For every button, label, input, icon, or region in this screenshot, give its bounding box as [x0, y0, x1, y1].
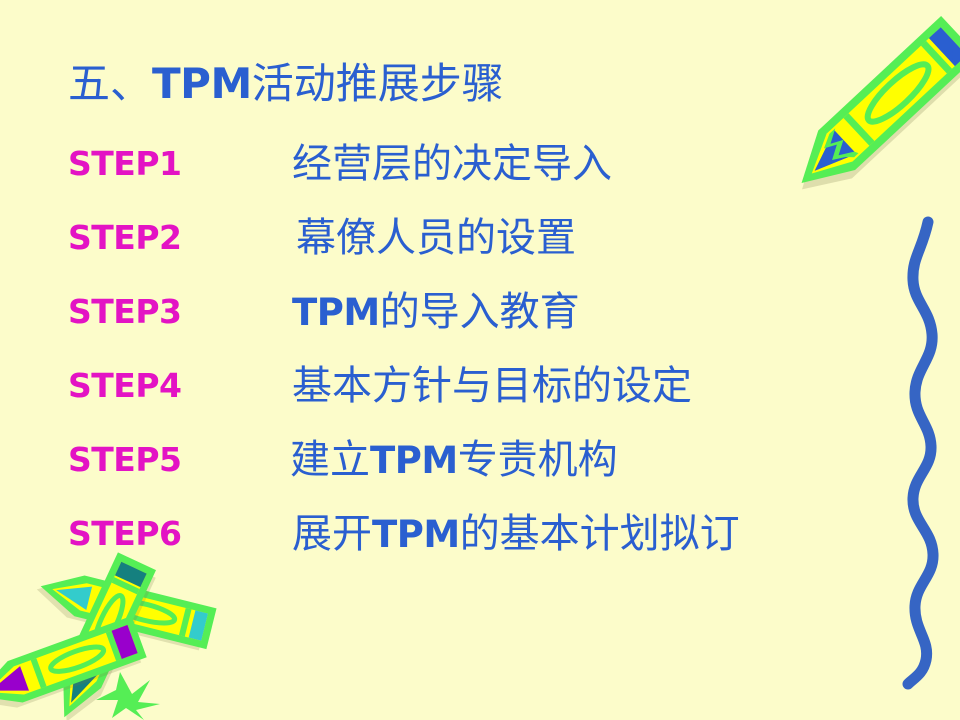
step-text-latin: TPM: [372, 513, 460, 556]
slide-canvas: 五、TPM活动推展步骤 STEP1 经营层的决定导入 STEP2 幕僚人员的设置…: [0, 0, 960, 720]
step-text-pre: 展开: [292, 511, 372, 557]
step-text-post: 基本方针与目标的设定: [292, 363, 692, 409]
step-row: STEP3 TPM的导入教育: [0, 286, 960, 346]
step-text-post: 经营层的决定导入: [292, 141, 612, 187]
step-text: TPM的导入教育: [292, 286, 580, 339]
step-text-pre: 建立: [290, 437, 370, 483]
step-row: STEP1 经营层的决定导入: [0, 138, 960, 198]
step-label: STEP3: [68, 286, 181, 338]
step-text: 幕僚人员的设置: [296, 212, 576, 265]
step-row: STEP4 基本方针与目标的设定: [0, 360, 960, 420]
step-label: STEP4: [68, 360, 181, 412]
page-title: 五、TPM活动推展步骤: [68, 58, 504, 110]
page-title-latin: TPM: [152, 59, 252, 108]
step-text: 基本方针与目标的设定: [292, 360, 692, 413]
step-label: STEP1: [68, 138, 181, 190]
step-label: STEP5: [68, 434, 181, 486]
step-row: STEP2 幕僚人员的设置: [0, 212, 960, 272]
step-text-post: 幕僚人员的设置: [296, 215, 576, 261]
page-title-suffix: 活动推展步骤: [252, 59, 504, 108]
step-text-post: 的基本计划拟订: [460, 511, 740, 557]
step-text-latin: TPM: [292, 291, 380, 334]
text-layer: 五、TPM活动推展步骤 STEP1 经营层的决定导入 STEP2 幕僚人员的设置…: [0, 0, 960, 720]
step-row: STEP5 建立TPM专责机构: [0, 434, 960, 494]
step-text: 经营层的决定导入: [292, 138, 612, 191]
step-text: 建立TPM专责机构: [290, 434, 618, 487]
step-label: STEP2: [68, 212, 181, 264]
step-row: STEP6 展开TPM的基本计划拟订: [0, 508, 960, 568]
page-title-prefix: 五、: [68, 59, 152, 108]
step-text-post: 的导入教育: [380, 289, 580, 335]
step-text-latin: TPM: [370, 439, 458, 482]
step-text: 展开TPM的基本计划拟订: [292, 508, 740, 561]
step-text-post: 专责机构: [458, 437, 618, 483]
step-label: STEP6: [68, 508, 181, 560]
